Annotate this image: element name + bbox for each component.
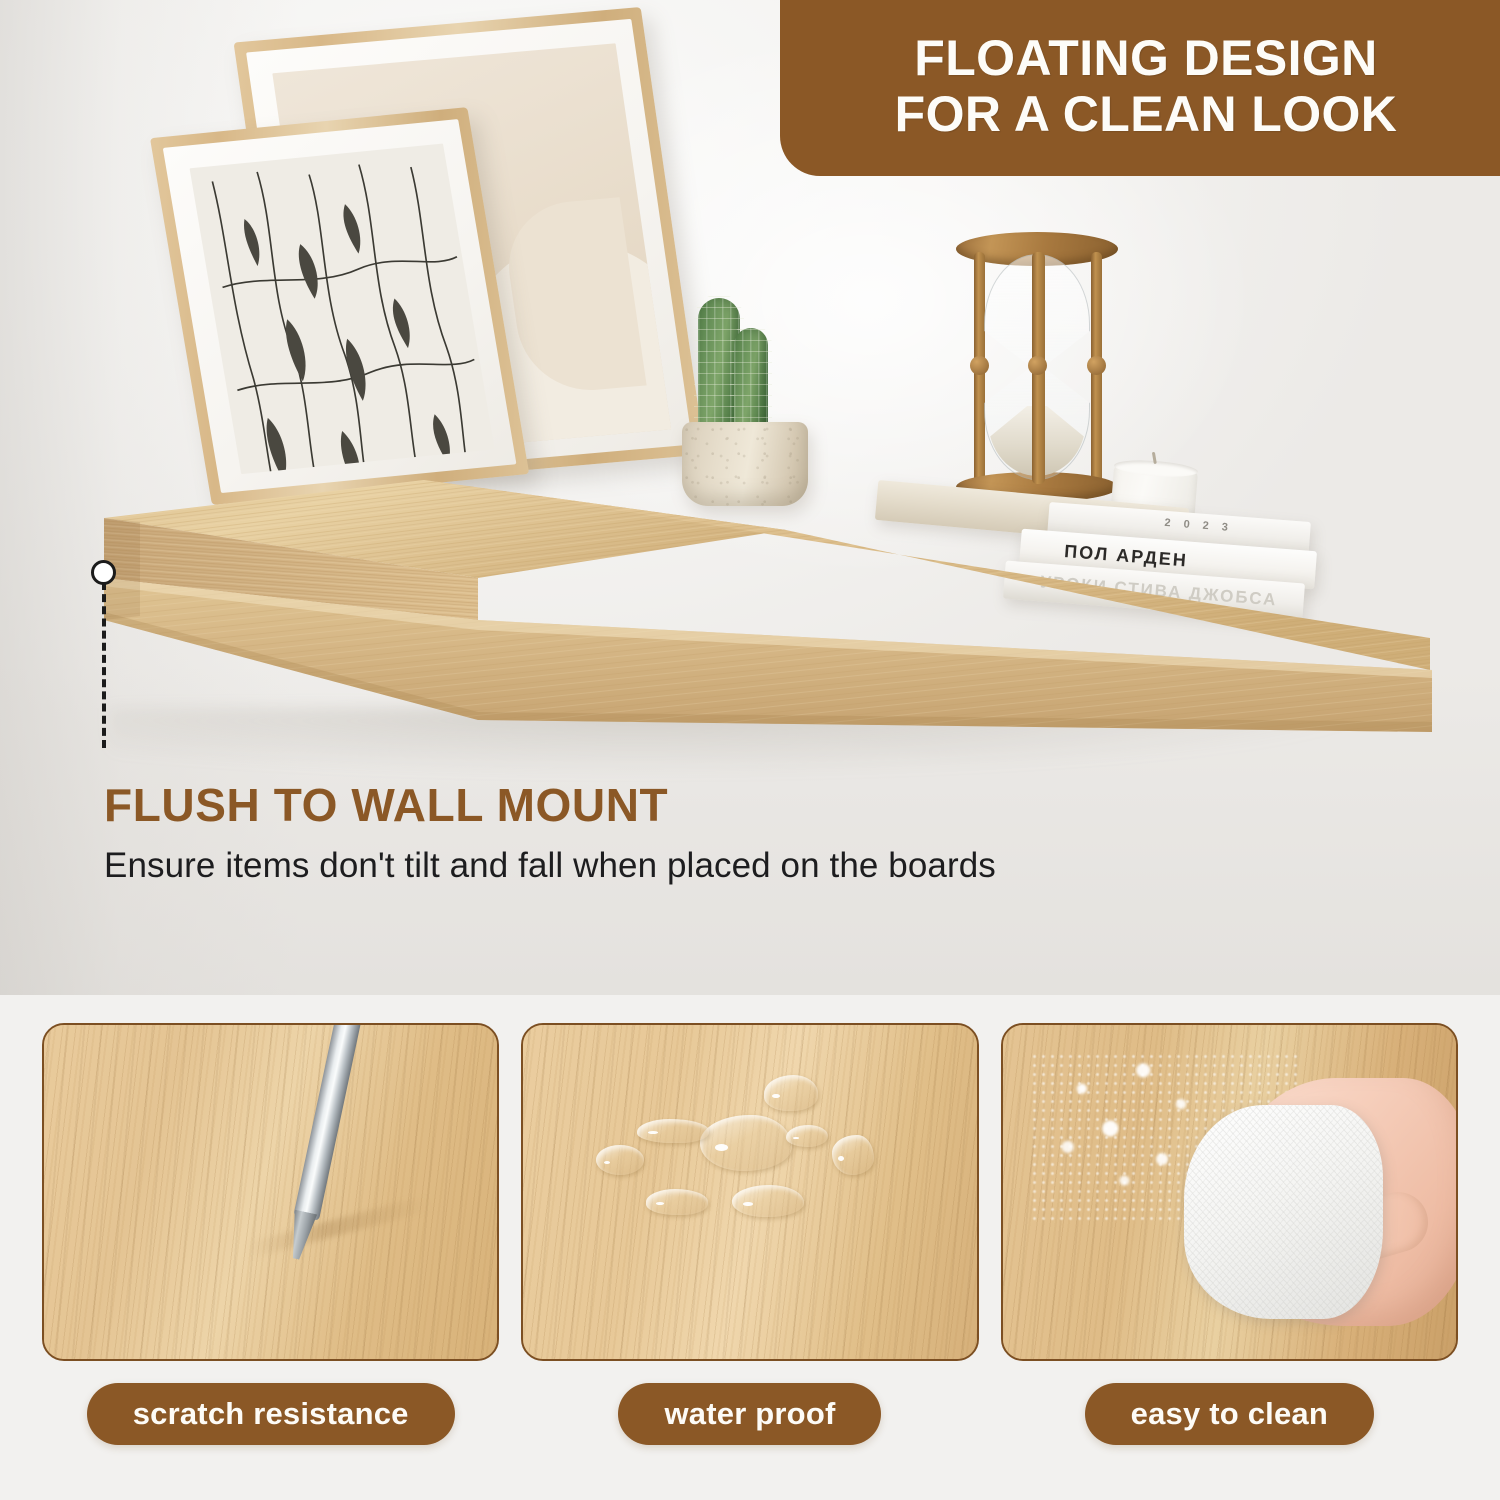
feature-scratch-resistance: scratch resistance — [42, 1023, 499, 1470]
floating-design-banner: FLOATING DESIGN FOR A CLEAN LOOK — [780, 0, 1500, 176]
feature-easy-to-clean: easy to clean — [1001, 1023, 1458, 1470]
feature-label-clean: easy to clean — [1085, 1383, 1374, 1445]
banner-line-1: FLOATING DESIGN — [914, 30, 1377, 86]
flush-mount-dashed-line — [102, 582, 106, 748]
frame-artwork-lineart — [190, 144, 495, 475]
hourglass-knob — [970, 356, 989, 375]
water-droplet — [637, 1119, 709, 1143]
water-droplet — [786, 1125, 828, 1147]
shelf-geometry — [0, 470, 1500, 780]
feature-label-water: water proof — [618, 1383, 881, 1445]
cactus-stem-short — [734, 328, 768, 436]
water-droplet — [596, 1145, 644, 1175]
feature-label-scratch: scratch resistance — [87, 1383, 455, 1445]
cloth-texture — [1184, 1105, 1383, 1319]
hero-caption: FLUSH TO WALL MOUNT Ensure items don't t… — [104, 782, 996, 886]
banner-line-2: FOR A CLEAN LOOK — [895, 86, 1398, 142]
caption-title: FLUSH TO WALL MOUNT — [104, 782, 996, 828]
feature-image-scratch — [42, 1023, 499, 1361]
water-droplet — [832, 1135, 874, 1175]
feature-panels: scratch resistance water proof — [0, 995, 1500, 1500]
floating-wood-shelf — [0, 470, 1500, 780]
water-droplet — [732, 1185, 804, 1217]
cleaning-cloth — [1184, 1105, 1383, 1319]
hero-scene: 2 0 2 3 ПОЛ АРДЕН УРОКИ СТИВА ДЖОБСА — [0, 0, 1500, 995]
water-droplet — [646, 1189, 708, 1215]
feature-image-water — [521, 1023, 978, 1361]
feature-water-proof: water proof — [521, 1023, 978, 1470]
hourglass-knob — [1087, 356, 1106, 375]
water-droplet — [764, 1075, 818, 1111]
caption-subtitle: Ensure items don't tilt and fall when pl… — [104, 846, 996, 886]
feature-image-clean — [1001, 1023, 1458, 1361]
water-droplet — [700, 1115, 792, 1171]
wooden-hourglass — [948, 228, 1126, 508]
picture-frame-front — [150, 107, 529, 505]
wood-surface — [44, 1025, 497, 1359]
flush-mount-dot-icon — [91, 560, 116, 585]
wood-grain-fine — [42, 1023, 499, 1361]
product-infographic: 2 0 2 3 ПОЛ АРДЕН УРОКИ СТИВА ДЖОБСА — [0, 0, 1500, 1500]
line-drawing-icon — [190, 144, 495, 475]
hourglass-knob — [1028, 356, 1047, 375]
